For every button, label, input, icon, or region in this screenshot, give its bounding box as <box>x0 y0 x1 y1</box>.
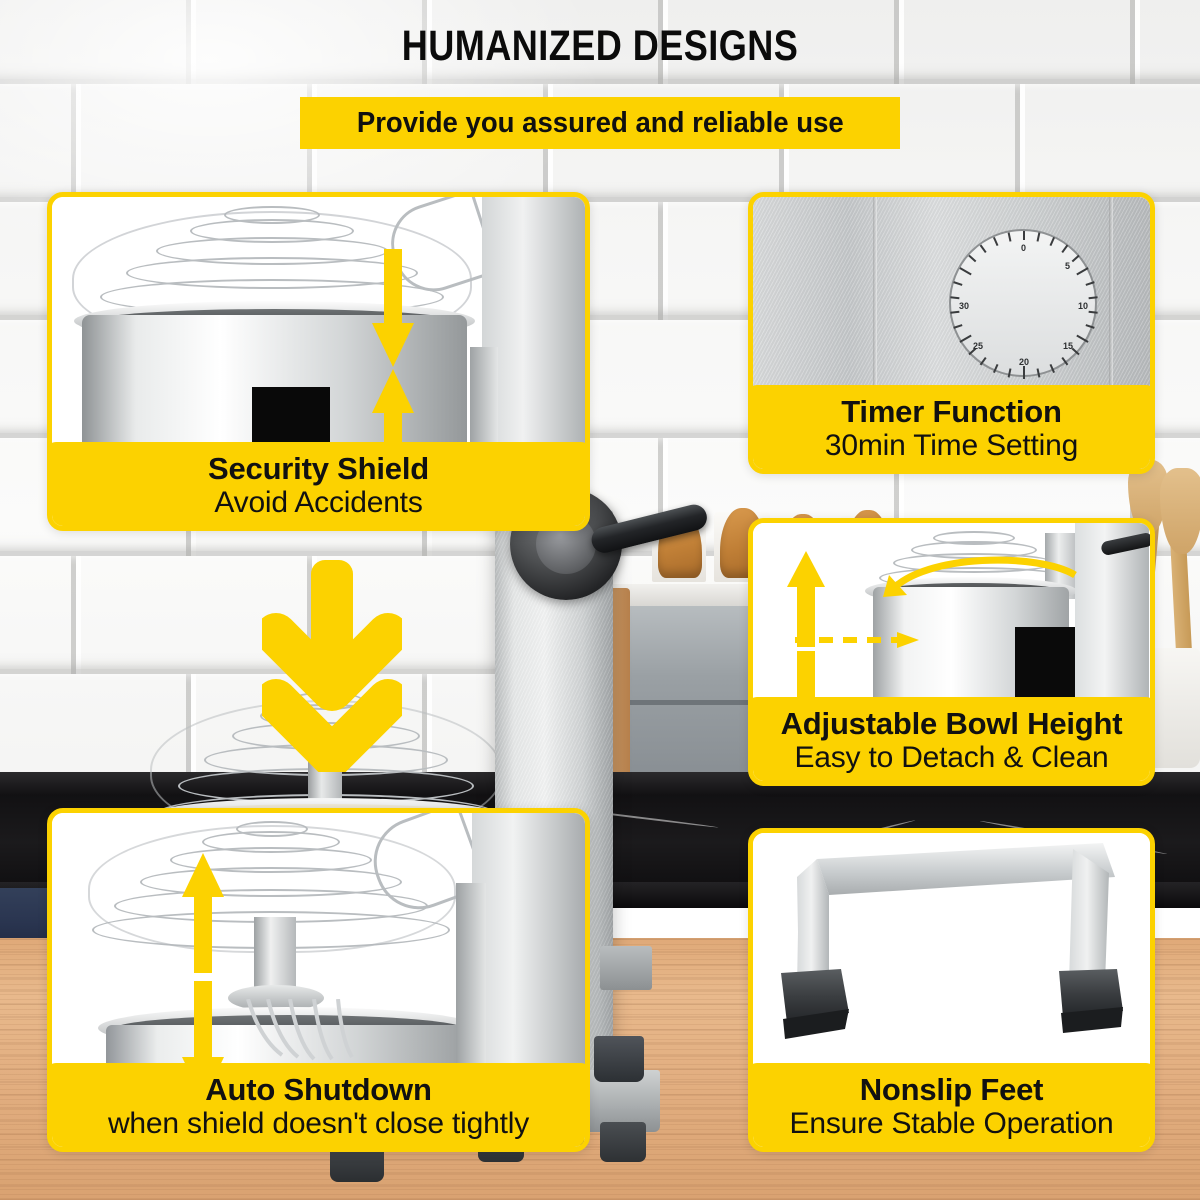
rotation-arrow-icon <box>877 545 1087 612</box>
arrow-up-icon <box>180 853 226 978</box>
feature-card-auto-shutdown[interactable]: Auto Shutdown when shield doesn't close … <box>47 808 590 1152</box>
feature-card-security-shield[interactable]: Security Shield Avoid Accidents <box>47 192 590 531</box>
mixer-foot <box>594 1036 644 1082</box>
feature-card-timer-function[interactable]: 0 5 10 15 20 25 30 Timer Function 30min … <box>748 192 1155 474</box>
dashed-arrow-right-icon <box>793 631 923 654</box>
card-subtitle: Ensure Stable Operation <box>755 1107 1148 1141</box>
card-caption: Nonslip Feet Ensure Stable Operation <box>748 1063 1155 1152</box>
card-title: Nonslip Feet <box>755 1073 1148 1106</box>
mixer-rail <box>456 883 486 1063</box>
mixer-foot-post <box>600 946 652 990</box>
dial-label-0: 0 <box>1021 243 1026 253</box>
card-caption: Adjustable Bowl Height Easy to Detach & … <box>748 697 1155 786</box>
page-title: HUMANIZED DESIGNS <box>96 22 1104 71</box>
card-caption: Security Shield Avoid Accidents <box>47 442 590 531</box>
arrow-down-icon <box>370 249 416 374</box>
page-subtitle: Provide you assured and reliable use <box>357 107 844 140</box>
card-title: Security Shield <box>54 452 583 485</box>
whisk-illustration <box>240 999 390 1061</box>
dial-label-20: 20 <box>1019 357 1029 367</box>
card-subtitle: Avoid Accidents <box>54 486 583 520</box>
double-chevron-down-icon <box>262 560 402 772</box>
card-title: Timer Function <box>755 395 1148 428</box>
card-title: Auto Shutdown <box>54 1073 583 1106</box>
timer-dial-icon: 0 5 10 15 20 25 30 <box>949 229 1097 377</box>
dial-label-5: 5 <box>1065 261 1070 271</box>
feature-card-adjustable-bowl-height[interactable]: Adjustable Bowl Height Easy to Detach & … <box>748 518 1155 786</box>
dial-label-15: 15 <box>1063 341 1073 351</box>
card-subtitle: 30min Time Setting <box>755 429 1148 463</box>
card-subtitle: Easy to Detach & Clean <box>755 741 1148 775</box>
card-caption: Timer Function 30min Time Setting <box>748 385 1155 474</box>
card-subtitle: when shield doesn't close tightly <box>54 1107 583 1141</box>
dial-label-10: 10 <box>1078 301 1088 311</box>
nonslip-foot-icon <box>753 833 1150 1043</box>
subtitle-banner: Provide you assured and reliable use <box>300 97 900 149</box>
dial-label-30: 30 <box>959 301 969 311</box>
card-caption: Auto Shutdown when shield doesn't close … <box>47 1063 590 1152</box>
card-title: Adjustable Bowl Height <box>755 707 1148 740</box>
dial-label-25: 25 <box>973 341 983 351</box>
mixer-foot <box>600 1122 646 1162</box>
feature-card-nonslip-feet[interactable]: Nonslip Feet Ensure Stable Operation <box>748 828 1155 1152</box>
